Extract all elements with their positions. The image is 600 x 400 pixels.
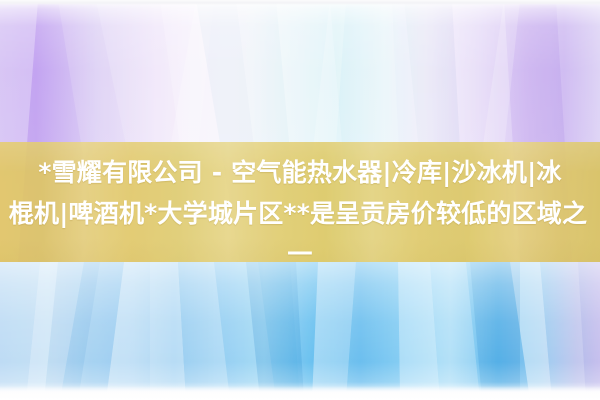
caption-line-3: 一 [0,234,600,275]
banner-lower-gradient-zone [0,262,600,400]
caption-line-1: *雪耀有限公司 - 空气能热水器|冷库|沙冰机|冰 [0,152,600,193]
caption-line-2-text: 棍机|啤酒机*大学城片区**是呈贡房价较低的区域之 [9,193,587,234]
top-edge-highlight [0,0,600,5]
lower-light-wash [0,262,600,400]
caption-line-2: 棍机|啤酒机*大学城片区**是呈贡房价较低的区域之 [0,193,600,234]
bottom-edge-highlight [0,386,600,400]
promo-banner-image: *雪耀有限公司 - 空气能热水器|冷库|沙冰机|冰 棍机|啤酒机*大学城片区**… [0,0,600,400]
